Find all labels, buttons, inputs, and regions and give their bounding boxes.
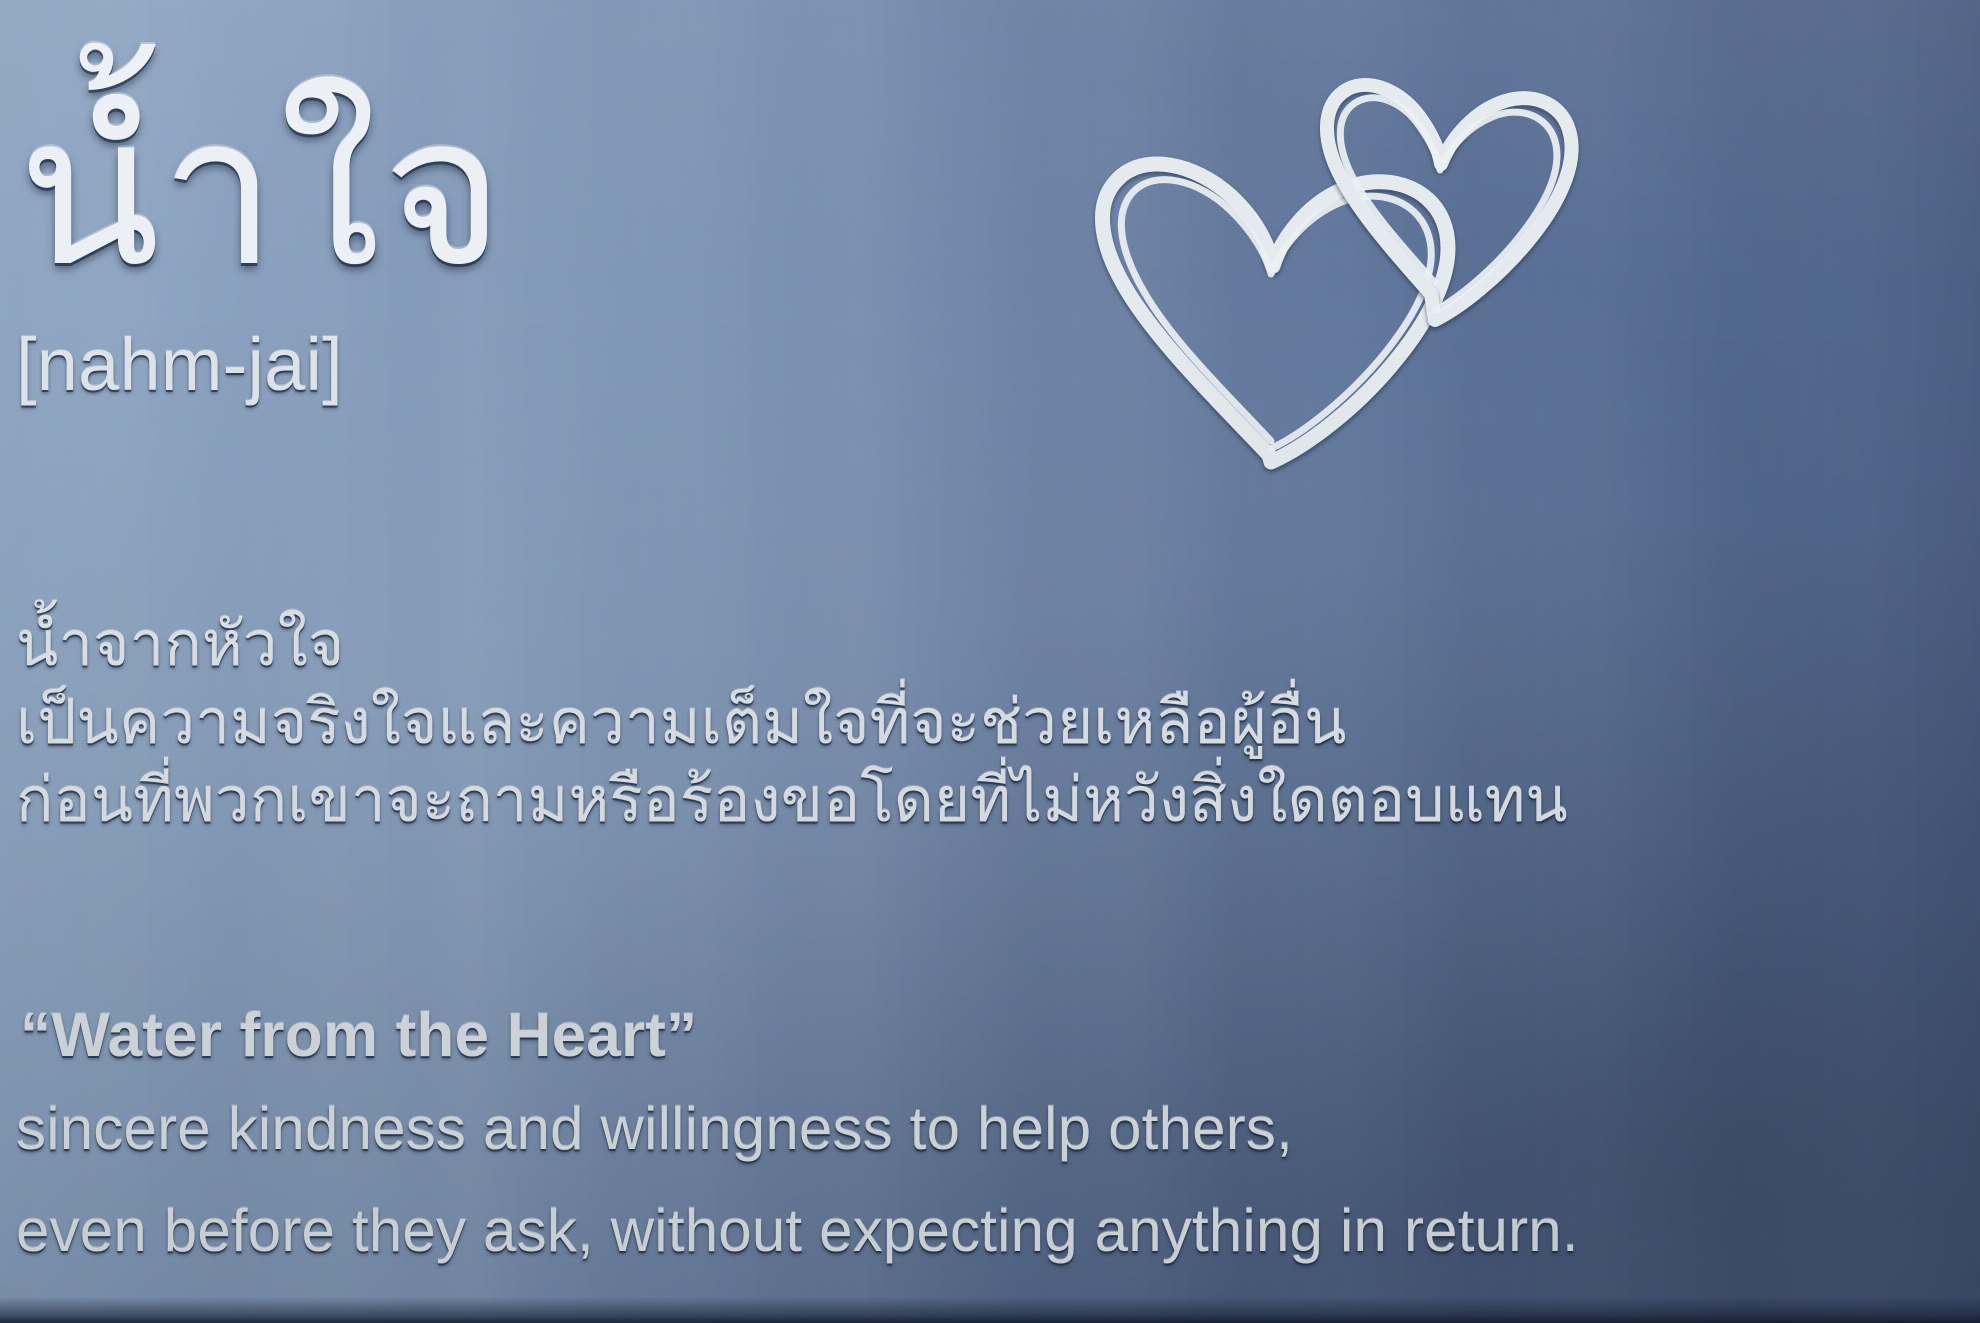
transliteration: [nahm-jai] (16, 322, 343, 407)
headword-thai: น้ำใจ (18, 88, 506, 296)
two-hearts-artwork (1055, 0, 1615, 500)
thai-definition-line-3: ก่อนที่พวกเขาจะถามหรือร้องขอโดยที่ไม่หวั… (16, 751, 1568, 849)
sign-plaque: น้ำใจ [nahm-jai] น้ำจากหัวใจ เป็นความจริ… (0, 0, 1980, 1323)
english-quote: “Water from the Heart” (20, 1000, 697, 1071)
english-definition-line-2: even before they ask, without expecting … (16, 1196, 1579, 1265)
heart-small-icon (1327, 85, 1572, 320)
heart-large-icon (1102, 164, 1448, 462)
english-definition-line-1: sincere kindness and willingness to help… (16, 1094, 1293, 1163)
plaque-bottom-edge (0, 1297, 1980, 1323)
